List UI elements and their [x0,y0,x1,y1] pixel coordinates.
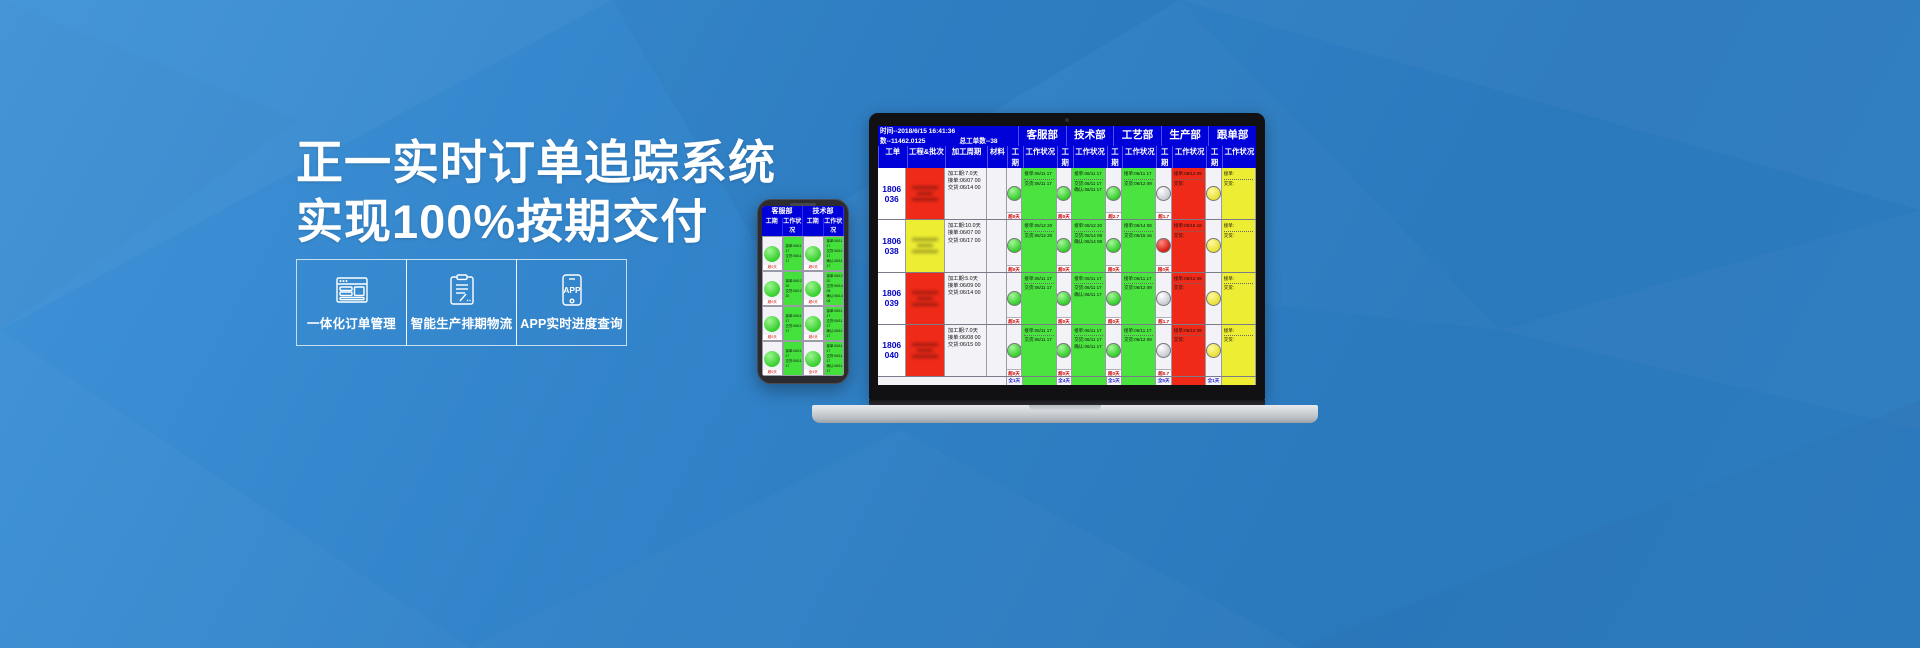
order-number: 1806036 [878,168,906,219]
duration-tag: 超0天 [763,370,782,375]
dept-duration-cell-3: 超0天 [1156,220,1172,271]
duration-tag: 超0天 [1156,265,1171,272]
col-header-1: 工程&批次 [907,146,946,168]
feature-order-management[interactable]: 一体化订单管理 [296,259,407,346]
dept-status-cell-3: 接单:06/15 16交货: [1172,220,1206,271]
processing-cycle-cell: 加工期:7.0天接单:06/08 00交货:06/15 00 [945,325,987,376]
status-dot-yellow [1206,291,1221,306]
dept-status-cell-2: 接单:06/11 17交货:06/12 09 [1122,325,1156,376]
dept-status-cell-4: 接单:交货: [1222,325,1256,376]
status-dot-green [1007,343,1022,358]
phone-duration-cell: 超0天 [762,271,783,306]
phone-status-cell: 接单:06/12 20交货:06/12 20 [783,271,804,306]
dept-duration-cell-4 [1206,325,1222,376]
col-header-1-0: 工期 [1057,146,1073,168]
duration-tag: 超0天 [1106,317,1121,324]
dept-status-cell-3: 接单:06/12 09交货: [1172,325,1206,376]
dept-status-cell-4: 接单:交货: [1222,220,1256,271]
phone-status-cell: 接单:06/11 17交货:06/11 17 [783,341,804,376]
duration-tag: 超0天 [763,335,782,340]
duration-tag: 超2.7天 [1106,212,1121,219]
dept-status-cell-0: 接单:06/11 17交货:06/11 17 [1022,325,1056,376]
dept-status-cell-0: 接单:06/11 17交货:06/11 17 [1022,273,1056,324]
footer-spacer-0 [1023,377,1057,385]
meta-total-orders: 总工单数--38 [959,137,997,147]
status-dot-grey [1156,343,1171,358]
dept-header-customer-service: 客服部 [1018,126,1066,146]
order-number: 1806038 [878,220,906,271]
project-batch-cell [906,325,944,376]
status-dot-green [764,351,780,367]
app-icon-text: APP [563,285,581,295]
footer-pad [878,377,1007,385]
dept-status-cell-4: 接单:交货: [1222,168,1256,219]
clipboard-icon [448,274,476,306]
duration-tag: 超1.7天 [1156,317,1171,324]
dept-header-followup: 跟单部 [1208,126,1256,146]
material-cell [987,273,1007,324]
dept-header-technical: 技术部 [1066,126,1114,146]
col-header-3: 材料 [987,146,1007,168]
phone-subheader: 工期 [762,218,783,236]
laptop-lid: 时间--2018/6/15 16:41:36 数--11462.0125 总工单… [869,113,1265,401]
footer-spacer-2 [1122,377,1156,385]
dept-status-cell-2: 接单:06/11 17交货:06/12 09 [1122,168,1156,219]
dept-status-cell-3: 接单:06/12 09交货: [1172,273,1206,324]
order-number: 1806039 [878,273,906,324]
duration-tag: 超0天 [763,265,782,270]
processing-cycle-cell: 加工期:10.0天接单:06/07 00交货:06/17 00 [945,220,987,271]
material-cell [987,220,1007,271]
dept-duration-cell-0: 超0天 [1007,220,1023,271]
dept-duration-cell-4 [1206,273,1222,324]
duration-tag: 超0天 [1007,212,1022,219]
dept-duration-cell-0: 超0天 [1007,273,1023,324]
table-row[interactable]: 1806038加工期:10.0天接单:06/07 00交货:06/17 00超0… [878,220,1256,272]
status-dot-grey [1156,291,1171,306]
dashboard-header: 时间--2018/6/15 16:41:36 数--11462.0125 总工单… [878,126,1256,146]
phone-subheader: 工作状况 [783,218,804,236]
dept-status-cell-1: 接单:06/12 20交货:06/14 08确认:06/14 08 [1072,220,1106,271]
dept-duration-cell-2: 超0天 [1106,273,1122,324]
dept-status-cell-0: 接单:06/11 17交货:06/11 17 [1022,168,1056,219]
phone-duration-cell: 超0天 [762,306,783,341]
status-dot-green [1007,291,1022,306]
order-tracking-dashboard: 时间--2018/6/15 16:41:36 数--11462.0125 总工单… [878,126,1256,385]
project-batch-cell [906,273,944,324]
dept-status-cell-1: 接单:06/11 17交货:06/11 17确认:06/11 17 [1072,325,1106,376]
dept-duration-cell-1: 超0天 [1057,273,1073,324]
dept-duration-cell-0: 超0天 [1007,325,1023,376]
col-header-0-1: 工作状况 [1023,146,1057,168]
promo-banner: 正一实时订单追踪系统 实现100%按期交付 一体化订单管理 [0,0,1920,648]
dept-header-production: 生产部 [1161,126,1209,146]
col-header-2-0: 工期 [1107,146,1123,168]
status-dot-green [1007,186,1022,201]
status-dot-yellow [1206,343,1221,358]
status-dot-green [1106,186,1121,201]
dashboard-meta: 时间--2018/6/15 16:41:36 数--11462.0125 总工单… [878,126,1018,146]
feature-label: 一体化订单管理 [307,313,396,332]
dept-status-cell-0: 接单:06/12 20交货:06/12 20 [1022,220,1056,271]
dept-status-cell-4: 接单:交货: [1222,273,1256,324]
status-dot-green [1106,238,1121,253]
phone-col-cs: 超0天接单:06/11 17交货:06/11 17超0天接单:06/12 20交… [762,236,803,376]
col-header-0-0: 工期 [1007,146,1023,168]
dashboard-column-headers: 工单工程&批次加工周期材料工期工作状况工期工作状况工期工作状况工期工作状况工期工… [878,146,1256,168]
feature-app-progress-query[interactable]: APP APP实时进度查询 [516,259,627,346]
processing-cycle-cell: 加工期:5.0天接单:06/09 00交货:06/14 00 [945,273,987,324]
status-dot-green [764,316,780,332]
duration-tag: 超0天 [1057,265,1072,272]
feature-list: 一体化订单管理 智能生产排期物流 [296,259,626,346]
col-header-3-0: 工期 [1156,146,1172,168]
phone-duration-cell: 超0天 [762,236,783,271]
footer-spacer-3 [1172,377,1206,385]
duration-tag: 超0天 [1057,212,1072,219]
dept-duration-cell-4 [1206,220,1222,271]
laptop-mockup: 时间--2018/6/15 16:41:36 数--11462.0125 总工单… [812,113,1318,423]
footer-spacer-4 [1222,377,1256,385]
meta-time: 时间--2018/6/15 16:41:36 [880,127,1018,137]
dept-duration-cell-3: 超1.7天 [1156,273,1172,324]
duration-tag: 超0天 [1057,369,1072,376]
col-header-2: 加工周期 [945,146,986,168]
table-row[interactable]: 1806040加工期:7.0天接单:06/08 00交货:06/15 00超0天… [878,325,1256,377]
footer-total-1: 全4天 [1057,377,1073,385]
col-header-1-1: 工作状况 [1073,146,1107,168]
col-header-0: 工单 [878,146,907,168]
duration-tag: 超0天 [1007,369,1022,376]
phone-status-cell: 接单:06/11 17交货:06/11 17 [783,236,804,271]
dept-duration-cell-0: 超0天 [1007,168,1023,219]
project-batch-cell [906,220,944,271]
col-header-2-1: 工作状况 [1122,146,1156,168]
footer-total-3: 全5天 [1156,377,1172,385]
laptop-base [812,405,1318,423]
footer-spacer-1 [1072,377,1106,385]
order-number: 1806040 [878,325,906,376]
table-row[interactable]: 1806036加工期:7.0天接单:06/07 00交货:06/14 00超0天… [878,168,1256,220]
duration-tag: 超0.7天 [1156,369,1171,376]
dept-duration-cell-1: 超0天 [1057,325,1073,376]
status-dot-green [1106,291,1121,306]
status-dot-green [1057,238,1072,253]
mobile-app-icon: APP [560,274,584,306]
dept-duration-cell-2: 超2.7天 [1106,168,1122,219]
material-cell [987,325,1007,376]
dept-status-cell-1: 接单:06/11 17交货:06/11 17确认:06/11 17 [1072,273,1106,324]
dept-duration-cell-3: 超1.7天 [1156,168,1172,219]
duration-tag: 超0天 [763,300,782,305]
status-dot-red [1156,238,1171,253]
dept-duration-cell-2: 超0天 [1106,325,1122,376]
col-header-4-0: 工期 [1206,146,1222,168]
meta-count: 数--11462.0125 [880,137,925,147]
feature-production-scheduling[interactable]: 智能生产排期物流 [406,259,517,346]
status-dot-grey [1156,186,1171,201]
footer-total-2: 全1天 [1107,377,1123,385]
dept-status-cell-3: 接单:06/12 09交货: [1172,168,1206,219]
status-dot-yellow [1206,186,1221,201]
phone-duration-cell: 超0天 [762,341,783,376]
duration-tag: 超0天 [1106,265,1121,272]
footer-total-0: 全1天 [1007,377,1023,385]
status-dot-green [1007,238,1022,253]
status-dot-green [1057,186,1072,201]
laptop-screen: 时间--2018/6/15 16:41:36 数--11462.0125 总工单… [878,126,1256,385]
processing-cycle-cell: 加工期:7.0天接单:06/07 00交货:06/14 00 [945,168,987,219]
dept-duration-cell-4 [1206,168,1222,219]
dashboard-table-body[interactable]: 1806036加工期:7.0天接单:06/07 00交货:06/14 00超0天… [878,168,1256,377]
status-dot-green [1106,343,1121,358]
col-header-3-1: 工作状况 [1172,146,1206,168]
status-dot-green [1057,291,1072,306]
dept-duration-cell-1: 超0天 [1057,168,1073,219]
feature-label: APP实时进度查询 [520,313,623,332]
dept-header-process: 工艺部 [1113,126,1161,146]
duration-tag: 超0天 [1057,317,1072,324]
phone-dept: 客服部 [762,206,803,218]
table-row[interactable]: 1806039加工期:5.0天接单:06/09 00交货:06/14 00超0天… [878,273,1256,325]
material-cell [987,168,1007,219]
status-dot-green [764,246,780,262]
feature-label: 智能生产排期物流 [411,313,513,332]
dashboard-footer-strip: 全1天全4天全1天全5天全1天 [878,377,1256,385]
order-window-icon [336,274,368,306]
dept-status-cell-1: 接单:06/11 17交货:06/11 17确认:06/11 17 [1072,168,1106,219]
dept-status-cell-2: 接单:06/14 08交货:06/15 16 [1122,220,1156,271]
duration-tag: 超0天 [1106,369,1121,376]
status-dot-yellow [1206,238,1221,253]
duration-tag: 超0天 [1007,265,1022,272]
col-header-4-1: 工作状况 [1222,146,1256,168]
status-dot-green [764,281,780,297]
duration-tag: 超0天 [1007,317,1022,324]
dept-duration-cell-1: 超0天 [1057,220,1073,271]
status-dot-green [1057,343,1072,358]
dept-duration-cell-2: 超0天 [1106,220,1122,271]
project-batch-cell [906,168,944,219]
webcam-icon [1065,118,1069,122]
dept-duration-cell-3: 超0.7天 [1156,325,1172,376]
footer-total-4: 全1天 [1206,377,1222,385]
phone-status-cell: 接单:06/11 17交货:06/11 17 [783,306,804,341]
duration-tag: 超1.7天 [1156,212,1171,219]
dept-status-cell-2: 接单:06/11 17交货:06/12 09 [1122,273,1156,324]
